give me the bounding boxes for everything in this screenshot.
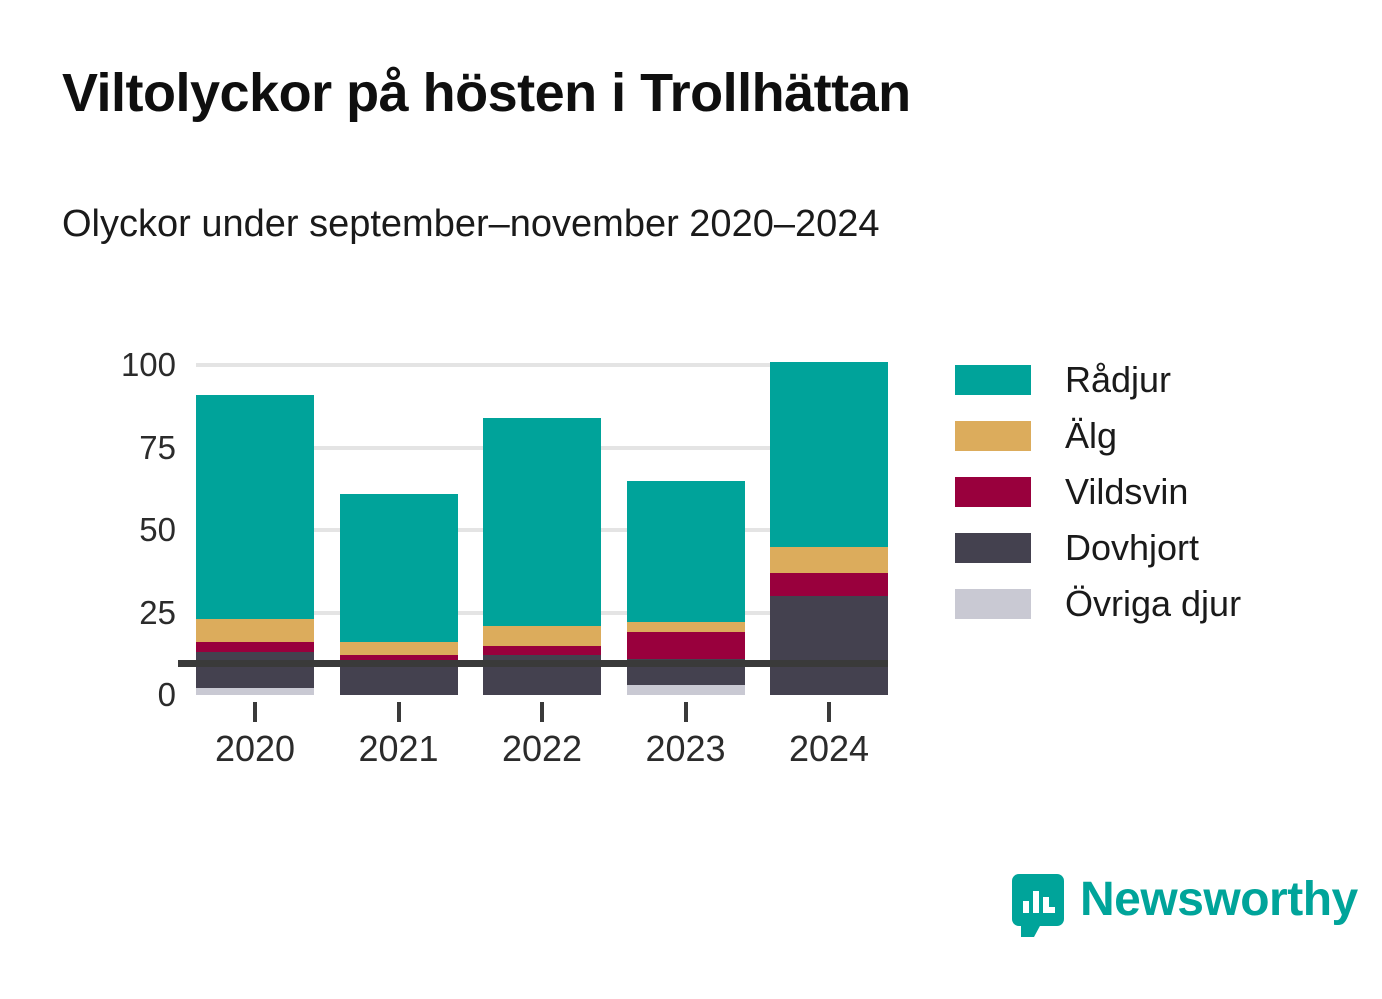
legend-item-älg[interactable]: Älg xyxy=(955,408,1355,464)
bar-segment[interactable] xyxy=(627,685,745,695)
bar-2022[interactable] xyxy=(483,418,601,695)
y-tick-label: 100 xyxy=(121,346,176,384)
bar-segment[interactable] xyxy=(770,362,888,547)
y-tick-label: 0 xyxy=(158,676,176,714)
x-tick xyxy=(827,702,831,722)
bar-segment[interactable] xyxy=(483,418,601,626)
y-tick-label: 50 xyxy=(139,511,176,549)
bar-2020[interactable] xyxy=(196,395,314,695)
page-title: Viltolyckor på hösten i Trollhättan xyxy=(62,62,911,124)
y-axis-labels: 0255075100 xyxy=(0,365,176,695)
x-tick-label: 2021 xyxy=(358,728,438,770)
bar-segment[interactable] xyxy=(627,622,745,632)
bar-segment[interactable] xyxy=(196,619,314,642)
x-axis-labels: 20202021202220232024 xyxy=(196,728,888,778)
bar-2024[interactable] xyxy=(770,362,888,695)
legend-swatch-icon xyxy=(955,477,1031,507)
legend-label: Älg xyxy=(1065,415,1117,457)
chart-legend: RådjurÄlgVildsvinDovhjortÖvriga djur xyxy=(955,352,1355,632)
brand-name: Newsworthy xyxy=(1080,872,1358,927)
bar-segment[interactable] xyxy=(340,665,458,695)
legend-swatch-icon xyxy=(955,365,1031,395)
x-axis-line xyxy=(178,660,888,667)
legend-item-vildsvin[interactable]: Vildsvin xyxy=(955,464,1355,520)
legend-swatch-icon xyxy=(955,421,1031,451)
legend-swatch-icon xyxy=(955,589,1031,619)
y-tick-label: 75 xyxy=(139,429,176,467)
bar-chart-speech-bubble-icon xyxy=(1012,874,1064,926)
bar-segment[interactable] xyxy=(196,688,314,695)
bar-segment[interactable] xyxy=(340,642,458,655)
x-tick xyxy=(397,702,401,722)
legend-label: Dovhjort xyxy=(1065,527,1199,569)
bar-segment[interactable] xyxy=(770,547,888,573)
legend-item-rådjur[interactable]: Rådjur xyxy=(955,352,1355,408)
legend-label: Rådjur xyxy=(1065,359,1171,401)
x-tick-label: 2024 xyxy=(789,728,869,770)
bar-segment[interactable] xyxy=(340,494,458,643)
bar-segment[interactable] xyxy=(196,642,314,652)
x-tick xyxy=(253,702,257,722)
x-tick-label: 2023 xyxy=(645,728,725,770)
bar-segment[interactable] xyxy=(627,481,745,623)
x-axis-ticks xyxy=(196,702,888,722)
bar-segment[interactable] xyxy=(196,652,314,688)
logo-bars-icon xyxy=(1023,887,1049,913)
bar-segment[interactable] xyxy=(770,573,888,596)
legend-label: Övriga djur xyxy=(1065,583,1241,625)
x-tick xyxy=(540,702,544,722)
bar-segment[interactable] xyxy=(483,646,601,656)
newsworthy-logo[interactable]: Newsworthy xyxy=(1012,872,1358,927)
stacked-bar-chart: 0255075100 20202021202220232024 xyxy=(0,330,940,780)
bar-segment[interactable] xyxy=(196,395,314,619)
legend-item-övriga-djur[interactable]: Övriga djur xyxy=(955,576,1355,632)
x-tick-label: 2020 xyxy=(215,728,295,770)
bar-group xyxy=(196,365,888,695)
bar-segment[interactable] xyxy=(770,596,888,695)
legend-label: Vildsvin xyxy=(1065,471,1188,513)
page-subtitle: Olyckor under september–november 2020–20… xyxy=(62,203,880,246)
y-tick-label: 25 xyxy=(139,594,176,632)
legend-swatch-icon xyxy=(955,533,1031,563)
plot-area xyxy=(196,365,888,695)
bar-segment[interactable] xyxy=(483,626,601,646)
bar-segment[interactable] xyxy=(627,632,745,658)
logo-dot-icon xyxy=(1049,907,1055,913)
chart-page: Viltolyckor på hösten i Trollhättan Olyc… xyxy=(0,0,1382,999)
legend-item-dovhjort[interactable]: Dovhjort xyxy=(955,520,1355,576)
x-tick xyxy=(684,702,688,722)
x-tick-label: 2022 xyxy=(502,728,582,770)
